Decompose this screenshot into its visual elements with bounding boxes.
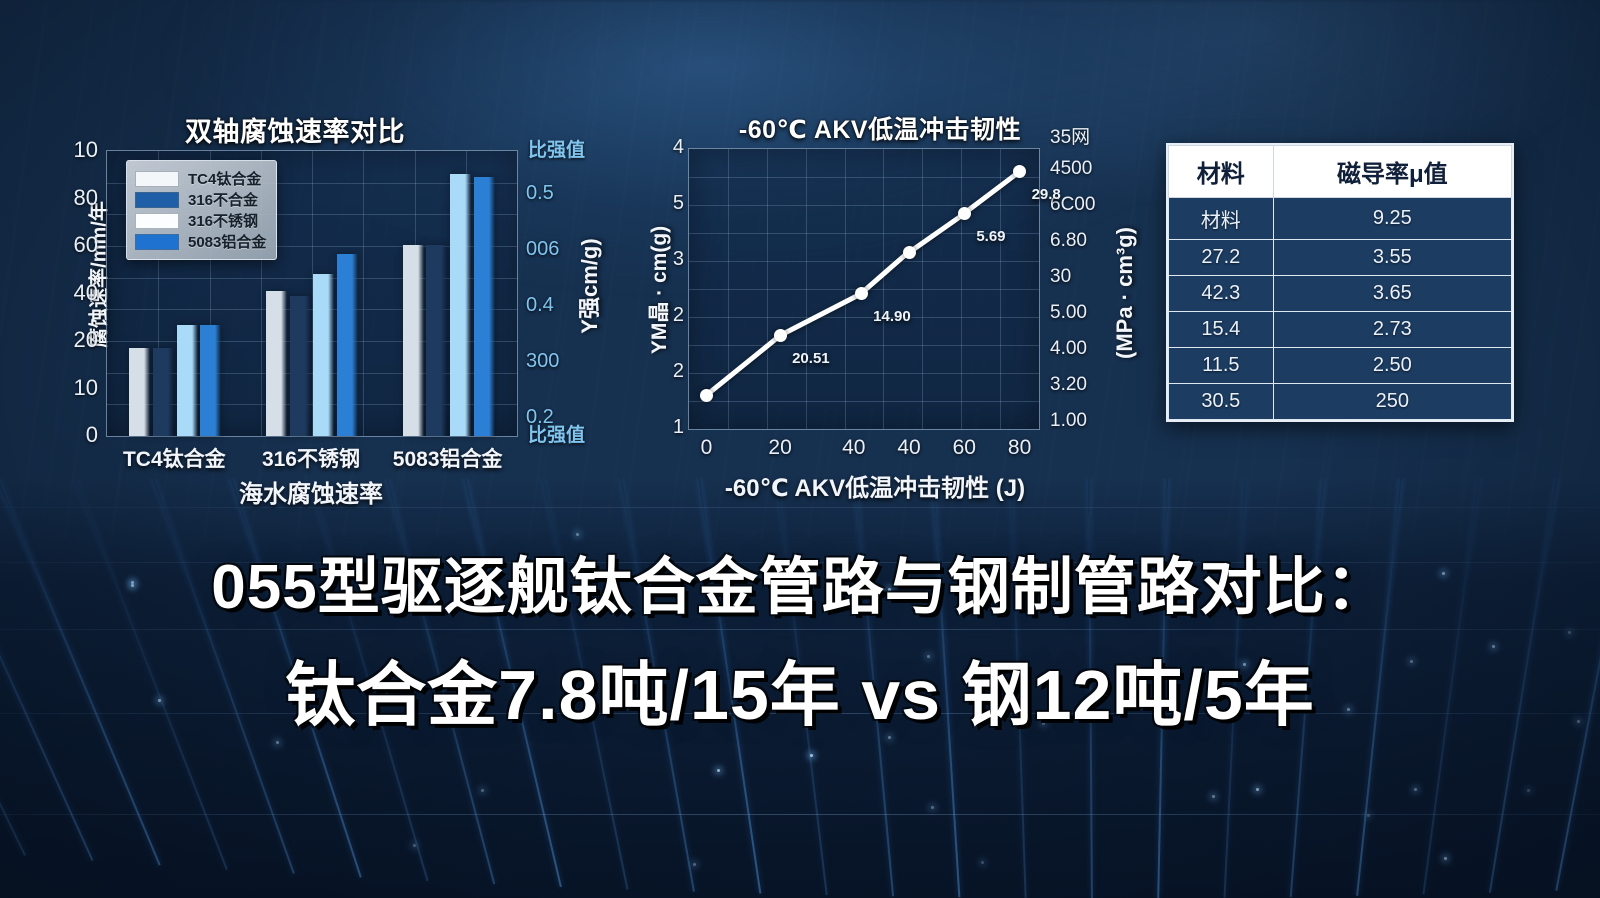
y-tick-label-right: 1.00 — [1050, 410, 1087, 432]
y-tick-label: 80 — [74, 185, 98, 211]
x-tick-label: 40 — [891, 436, 927, 460]
table-cell: 11.5 — [1169, 348, 1274, 384]
legend-label: 316不锈钢 — [188, 210, 258, 231]
y-tick-label-right: 5.00 — [1050, 302, 1087, 324]
y-tick-label-right: 4500 — [1050, 158, 1092, 180]
table-cell: 30.5 — [1169, 384, 1274, 420]
legend-swatch — [135, 192, 179, 208]
x-tick-label: 40 — [836, 436, 872, 460]
table-cell: 250 — [1273, 384, 1511, 420]
x-tick-label: 0 — [688, 436, 724, 460]
legend-item[interactable]: 316不合金 — [135, 189, 266, 210]
data-point-label: 20.51 — [792, 350, 830, 367]
line-chart-x-axis-title: -60℃ AKV低温冲击韧性 (J) — [640, 468, 1110, 503]
bar-chart-right-axis-top-label: 比强值 — [528, 135, 585, 162]
y-tick-label: 2 — [662, 360, 684, 383]
table-header-row: 材料 磁导率μ值 — [1169, 146, 1512, 198]
bar — [426, 245, 447, 436]
line-chart-y-right-label: (MPa · cm³g) — [1112, 188, 1138, 398]
headline-block: 055型驱逐舰钛合金管路与钢制管路对比： 钛合金7.8吨/15年 vs 钢12吨… — [0, 545, 1600, 745]
bar-chart-panel: 双轴腐蚀速率对比 腐蚀速率/mm/年 Y强cm/g) 比强值 比强值 10806… — [60, 110, 620, 510]
data-point[interactable] — [958, 207, 971, 220]
y-tick-label: 20 — [74, 327, 98, 353]
x-tick-label: 316不锈钢 — [243, 443, 380, 473]
y-tick-label: 10 — [74, 137, 98, 163]
data-point[interactable] — [903, 246, 916, 259]
headline-line-1: 055型驱逐舰钛合金管路与钢制管路对比： — [0, 545, 1600, 631]
y-tick-label-right: 300 — [526, 350, 559, 373]
y-tick-label: 4 — [662, 136, 684, 159]
y-tick-label-right: 006 — [526, 238, 559, 261]
bar — [290, 296, 311, 436]
bar-chart-title: 双轴腐蚀速率对比 — [60, 110, 530, 149]
table-cell: 材料 — [1169, 198, 1274, 240]
bar — [153, 348, 174, 436]
table-header-material: 材料 — [1169, 146, 1274, 198]
table-header-permeability: 磁导率μ值 — [1273, 146, 1511, 198]
legend-label: 5083铝合金 — [188, 231, 266, 252]
legend-swatch — [135, 213, 179, 229]
bar — [177, 325, 198, 436]
table-row: 11.52.50 — [1169, 348, 1512, 384]
table-row: 15.42.73 — [1169, 312, 1512, 348]
y-tick-label: 0 — [86, 422, 98, 448]
y-tick-label-right: 4.00 — [1050, 338, 1087, 360]
table-cell: 9.25 — [1273, 198, 1511, 240]
y-tick-label: 40 — [74, 280, 98, 306]
y-tick-label-right: 0.5 — [526, 182, 554, 205]
data-point-label: 14.90 — [873, 308, 911, 325]
legend-item[interactable]: 5083铝合金 — [135, 231, 266, 252]
x-tick-label: 80 — [1002, 436, 1038, 460]
data-point-label: 5.69 — [976, 228, 1005, 245]
table-cell: 42.3 — [1169, 276, 1274, 312]
table-cell: 3.55 — [1273, 240, 1511, 276]
y-tick-label: 10 — [74, 375, 98, 401]
line-chart-title: -60℃ AKV低温冲击韧性 — [660, 110, 1100, 146]
legend-swatch — [135, 171, 179, 187]
charts-band: 双轴腐蚀速率对比 腐蚀速率/mm/年 Y强cm/g) 比强值 比强值 10806… — [0, 0, 1600, 520]
bar — [266, 291, 287, 436]
bar-chart-legend[interactable]: TC4钛合金316不合金316不锈钢5083铝合金 — [126, 160, 277, 260]
legend-item[interactable]: TC4钛合金 — [135, 168, 266, 189]
table-cell: 2.50 — [1273, 348, 1511, 384]
material-permeability-table: 材料 磁导率μ值 材料9.2527.23.5542.33.6515.42.731… — [1166, 143, 1514, 422]
bar — [337, 254, 358, 436]
y-tick-label-right: 30 — [1050, 266, 1071, 288]
bar — [200, 325, 221, 436]
bar-chart-x-axis-title: 海水腐蚀速率 — [106, 474, 516, 509]
legend-label: 316不合金 — [188, 189, 258, 210]
data-point-label: 29.8 — [1032, 186, 1061, 203]
bar — [474, 177, 495, 436]
y-tick-label: 3 — [662, 248, 684, 271]
data-point[interactable] — [700, 389, 713, 402]
legend-label: TC4钛合金 — [188, 168, 261, 189]
x-tick-label: 60 — [946, 436, 982, 460]
y-tick-label-right: 6.80 — [1050, 230, 1087, 252]
x-tick-label: 5083铝合金 — [379, 443, 516, 473]
y-tick-label: 60 — [74, 232, 98, 258]
table-row: 42.33.65 — [1169, 276, 1512, 312]
y-tick-label: 1 — [662, 416, 684, 439]
bar-chart-y-right-label: Y强cm/g) — [572, 196, 604, 376]
y-tick-label-right: 0.2 — [526, 406, 554, 429]
headline-line-2: 钛合金7.8吨/15年 vs 钢12吨/5年 — [0, 645, 1600, 745]
table-cell: 2.73 — [1273, 312, 1511, 348]
bar — [403, 245, 424, 436]
table-cell: 3.65 — [1273, 276, 1511, 312]
bar — [313, 274, 334, 436]
x-tick-label: TC4钛合金 — [106, 443, 243, 473]
table-cell: 15.4 — [1169, 312, 1274, 348]
table-row: 30.5250 — [1169, 384, 1512, 420]
line-chart-panel: -60℃ AKV低温冲击韧性 YM晶 · cm(g) (MPa · cm³g) … — [620, 110, 1160, 510]
legend-item[interactable]: 316不锈钢 — [135, 210, 266, 231]
table-row: 材料9.25 — [1169, 198, 1512, 240]
bar — [450, 174, 471, 436]
y-tick-label-right: 0.4 — [526, 294, 554, 317]
table-cell: 27.2 — [1169, 240, 1274, 276]
x-tick-label: 20 — [762, 436, 798, 460]
table-body: 材料9.2527.23.5542.33.6515.42.7311.52.5030… — [1169, 198, 1512, 420]
bar — [129, 348, 150, 436]
data-point[interactable] — [774, 329, 787, 342]
y-tick-label: 5 — [662, 192, 684, 215]
y-tick-label-right: 35网 — [1050, 122, 1090, 149]
y-tick-label: 2 — [662, 304, 684, 327]
y-tick-label-right: 3.20 — [1050, 374, 1087, 396]
legend-swatch — [135, 234, 179, 250]
table-row: 27.23.55 — [1169, 240, 1512, 276]
